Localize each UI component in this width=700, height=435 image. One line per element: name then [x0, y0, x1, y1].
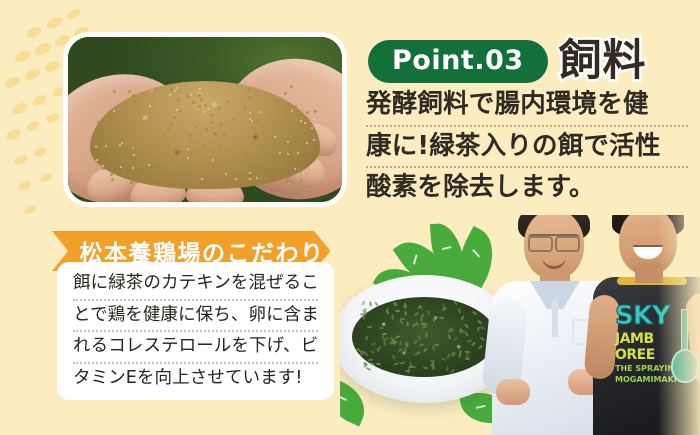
feed-grain	[212, 159, 214, 161]
tea-leaf-bit	[362, 314, 364, 319]
feed-grain	[262, 147, 265, 150]
feed-grain	[309, 100, 311, 102]
feed-grain	[294, 105, 297, 108]
feed-grain	[280, 165, 283, 168]
feed-grain	[274, 136, 276, 138]
tea-leaf-bit	[365, 335, 368, 340]
tea-leaf-bit	[440, 357, 445, 361]
glasses-icon	[528, 234, 580, 248]
feed-grain	[96, 159, 98, 161]
feed-grain	[141, 151, 144, 154]
tea-leaf-bit	[471, 341, 476, 346]
decor-dot	[31, 93, 48, 108]
feed-grain	[175, 176, 178, 179]
feed-grain	[248, 96, 251, 99]
feed-grain	[159, 176, 162, 179]
feed-grain	[169, 94, 171, 96]
feed-grain	[133, 100, 136, 103]
tea-leaves-pile	[352, 297, 496, 377]
tea-leaf-bit	[370, 350, 375, 353]
feed-grain	[228, 168, 231, 171]
feed-grain	[120, 166, 122, 168]
feed-grain	[313, 135, 316, 138]
feed-grain	[187, 157, 189, 159]
feed-grain	[214, 133, 217, 136]
decor-dot	[33, 40, 54, 57]
decor-dot	[13, 153, 29, 167]
feed-grain	[220, 123, 223, 126]
feed-grain	[306, 149, 309, 152]
feed-grain	[273, 143, 276, 146]
decor-dot	[45, 111, 60, 124]
tea-leaf-bit	[448, 330, 453, 332]
tea-leaf-bit	[419, 344, 424, 347]
feed-grain	[97, 121, 100, 124]
tea-leaf-bit	[370, 342, 375, 345]
tea-leaf-bit	[379, 326, 384, 329]
feed-grain	[203, 111, 205, 113]
tea-leaf-bit	[369, 301, 372, 306]
feed-grain	[174, 90, 176, 92]
feed-grain	[170, 123, 173, 126]
tea-leaf-bit	[386, 309, 389, 314]
feed-grain	[218, 145, 221, 148]
tea-leaf-bit	[374, 301, 378, 306]
decor-dot	[23, 67, 42, 83]
feed-grain	[275, 99, 278, 102]
feed-grain	[249, 118, 251, 120]
tea-leaf-bit	[478, 344, 483, 349]
feed-grain	[205, 128, 208, 131]
feed-grain	[165, 152, 168, 155]
tea-leaf-bit	[454, 300, 458, 305]
feed-grain	[249, 178, 251, 180]
feed-grain	[113, 110, 115, 112]
decor-dot	[17, 179, 32, 192]
tea-leaf-bit	[370, 362, 375, 366]
lead-line: 酸素を除去します。	[366, 175, 688, 208]
feed-grain	[194, 182, 197, 185]
feed-grain	[277, 177, 280, 180]
feed-grain	[255, 119, 258, 122]
decor-dot	[33, 145, 48, 158]
feed-grain	[95, 146, 97, 148]
feed-grain	[280, 158, 283, 161]
feed-grain	[212, 165, 215, 168]
feed-grain	[176, 109, 178, 111]
tea-leaf-bit	[384, 340, 386, 345]
feed-grain	[133, 154, 135, 156]
decor-dot	[11, 101, 29, 116]
tea-leaf-bit	[394, 362, 399, 366]
tea-leaf-bit	[480, 337, 485, 342]
tea-leaf-bit	[464, 323, 469, 328]
tea-leaf-bit	[391, 314, 394, 319]
feed-grain	[198, 172, 201, 175]
feed-grain	[287, 153, 289, 155]
tea-leaf-bit	[366, 367, 371, 371]
feed-grain	[188, 139, 191, 142]
tea-leaf-bit	[367, 325, 372, 328]
tea-leaf-bit	[448, 334, 452, 339]
feed-grain	[177, 98, 180, 101]
tea-leaf-bit	[400, 320, 405, 325]
tea-leaf-bit	[464, 332, 469, 337]
tea-leaf-bit	[422, 325, 427, 329]
feed-grain	[132, 148, 135, 151]
feed-grain	[254, 167, 257, 170]
tea-leaf-bit	[377, 345, 381, 350]
card-line: タミンEを向上させています!	[73, 370, 318, 394]
feed-grain	[256, 137, 259, 140]
tea-leaf-bit	[412, 323, 417, 327]
tea-leaf-bit	[413, 340, 418, 345]
decor-dot	[25, 25, 43, 40]
card-line: とで鶏を健康に保ち、卵に含ま	[73, 307, 318, 333]
card-line: 餌に緑茶のカテキンを混ぜるこ	[73, 275, 318, 301]
tea-leaf-bit	[392, 354, 395, 359]
feed-grain	[111, 156, 114, 159]
tea-leaf-bit	[439, 316, 444, 319]
feed-grain	[252, 126, 255, 129]
feed-grain	[306, 142, 308, 144]
decor-dot	[5, 127, 22, 142]
tea-leaf-bit	[446, 366, 448, 371]
feed-grain	[216, 173, 219, 176]
feed-grain	[294, 168, 296, 170]
tea-leaf-bit	[425, 333, 427, 338]
feed-grain	[198, 105, 201, 108]
decor-dot	[13, 49, 32, 65]
feed-grain	[189, 134, 192, 137]
feed-grain	[119, 144, 121, 146]
feed-grain	[291, 110, 293, 112]
feed-grain	[149, 105, 151, 107]
feed-grain	[179, 110, 182, 113]
feed-grain	[244, 158, 247, 161]
feed-grain	[167, 129, 170, 132]
feed-grain	[132, 167, 134, 169]
point-heading-row: Point.03 飼料	[368, 40, 647, 83]
feed-grain	[259, 111, 261, 113]
lead-copy: 発酵飼料で腸内環境を健 康に!緑茶入りの餌で活性 酸素を除去します。	[366, 92, 688, 215]
feed-grain	[148, 164, 150, 166]
feed-grain	[287, 141, 289, 143]
feed-grain	[232, 118, 235, 121]
feed-grain	[249, 112, 251, 114]
feed-grain	[204, 104, 207, 107]
point-badge: Point.03	[368, 40, 548, 83]
tea-leaf-bit	[395, 310, 400, 312]
feed-grain	[210, 114, 213, 117]
tea-leaf-bit	[414, 311, 419, 316]
feed-grain	[208, 108, 210, 110]
tea-leaf-bit	[368, 358, 373, 361]
tea-leaf-bit	[459, 350, 462, 355]
tea-leaf-bit	[398, 348, 403, 352]
tea-leaf-bit	[362, 300, 366, 305]
feed-grain	[287, 103, 290, 106]
feed-grain	[132, 95, 135, 98]
scene-edge-fade	[658, 215, 700, 435]
feed-grain	[223, 132, 226, 135]
feed-grain	[275, 120, 278, 123]
tshirt-line: JAMB	[615, 331, 654, 347]
tea-leaf-bit	[407, 322, 409, 327]
feed-grain	[297, 149, 300, 152]
tea-leaf-bit	[405, 347, 407, 352]
tea-leaf-bit	[404, 310, 408, 315]
feed-grain	[151, 90, 153, 92]
tea-leaf-bit	[427, 310, 431, 315]
photo-hands-holding-feed	[63, 32, 347, 207]
tea-leaf-bit	[356, 347, 361, 351]
tea-leaf-bit	[417, 335, 421, 340]
feed-grain	[150, 167, 153, 170]
feed-grain	[150, 154, 153, 157]
decor-dot	[65, 7, 82, 21]
tea-leaf-bit	[451, 369, 456, 374]
feed-grain	[241, 171, 244, 174]
feed-grain	[150, 162, 153, 165]
feed-grain	[203, 144, 206, 147]
tea-leaf-bit	[400, 361, 405, 364]
feed-grain	[294, 154, 297, 157]
tea-leaf-bit	[399, 341, 402, 346]
feed-grain	[187, 95, 190, 98]
tea-leaf-bit	[365, 351, 369, 356]
feed-grain	[162, 134, 165, 137]
feed-grain	[122, 171, 125, 174]
feed-grain	[170, 88, 173, 91]
feed-grain	[249, 172, 251, 174]
decor-dot	[23, 204, 37, 216]
tea-leaf-bit	[394, 335, 399, 339]
feed-grain	[300, 120, 302, 122]
decor-dot	[43, 59, 61, 74]
feed-grain	[176, 155, 179, 158]
feed-grain	[233, 160, 236, 163]
tea-leaf-bit	[472, 311, 477, 315]
feed-grain	[129, 143, 132, 146]
page-title: 飼料	[559, 40, 647, 83]
tea-leaf-bit	[409, 361, 412, 366]
tea-leaf-bit	[382, 332, 387, 335]
decor-dot	[25, 119, 41, 133]
feed-grain	[244, 107, 247, 110]
tea-leaf-bit	[460, 315, 464, 320]
decor-dot	[39, 172, 53, 184]
feed-grain	[187, 148, 189, 150]
feed-grain	[172, 158, 175, 161]
feed-grain	[173, 116, 176, 119]
feed-grain	[199, 88, 201, 90]
feed-grain	[189, 163, 192, 166]
feed-grain	[225, 173, 227, 175]
feed-grain	[259, 177, 262, 180]
poster-canvas: Point.03 飼料 発酵飼料で腸内環境を健 康に!緑茶入りの餌で活性 酸素を…	[0, 0, 700, 435]
card-line: れるコレステロールを下げ、ビ	[73, 338, 318, 364]
tea-leaf-bit	[420, 317, 422, 322]
feed-grain	[145, 154, 148, 157]
feed-grain	[229, 161, 232, 164]
detail-card: 餌に緑茶のカテキンを混ぜるこ とで鶏を健康に保ち、卵に含ま れるコレステロールを…	[57, 262, 334, 400]
feed-grain	[245, 151, 248, 154]
feed-grain	[276, 112, 279, 115]
feed-grain	[211, 121, 214, 124]
feed-grain	[205, 155, 208, 158]
tea-leaf-bit	[453, 336, 458, 341]
lead-line: 発酵飼料で腸内環境を健	[366, 92, 688, 127]
feed-grain	[297, 152, 299, 154]
tea-leaf-bit	[465, 358, 470, 360]
feed-grain	[121, 142, 123, 144]
feed-grain	[251, 120, 253, 122]
lead-line: 康に!緑茶入りの餌で活性	[366, 134, 688, 169]
feed-grain	[314, 110, 317, 113]
decor-dot	[3, 75, 21, 90]
tea-leaf-bit	[457, 308, 460, 313]
farmers-scene: SKY JAMB OREE THE SPRAYING MOGAMIMAKI	[340, 215, 700, 435]
tea-leaf-bit	[399, 317, 404, 319]
feed-grain	[223, 164, 226, 167]
feed-grain	[200, 98, 203, 101]
tea-leaf-bit	[480, 326, 485, 330]
tea-leaf-bit	[433, 316, 437, 321]
tea-leaf-bit	[423, 347, 428, 352]
feed-grain	[128, 90, 131, 93]
feed-grain	[130, 181, 133, 184]
feed-grain	[247, 89, 250, 92]
feed-grain	[226, 100, 229, 103]
feed-grain	[256, 177, 258, 179]
feed-grain	[235, 178, 237, 180]
tea-leaf-bit	[434, 343, 439, 346]
feed-grain	[286, 117, 289, 120]
feed-grain	[279, 152, 281, 154]
feed-grain	[137, 149, 140, 152]
feed-grain	[176, 87, 178, 89]
feed-grain	[190, 94, 192, 96]
tea-leaf-bit	[477, 319, 482, 324]
tea-leaf-bit	[422, 366, 427, 369]
feed-grain	[313, 139, 315, 141]
feed-grain	[311, 127, 313, 129]
feed-grain	[105, 145, 107, 147]
feed-grain	[314, 94, 316, 96]
feed-grain	[304, 122, 306, 124]
feed-grain	[218, 107, 221, 110]
feed-grain	[169, 176, 172, 179]
tshirt-line: OREE	[615, 347, 655, 363]
tea-leaf-bit	[467, 339, 472, 342]
tea-leaf-bit	[376, 362, 381, 365]
tea-leaf-bit	[442, 307, 447, 312]
tea-leaf-bit	[459, 328, 462, 333]
decor-dot	[45, 15, 64, 31]
feed-grain	[192, 101, 195, 104]
feed-grain	[201, 178, 203, 180]
feed-grain	[198, 94, 201, 97]
